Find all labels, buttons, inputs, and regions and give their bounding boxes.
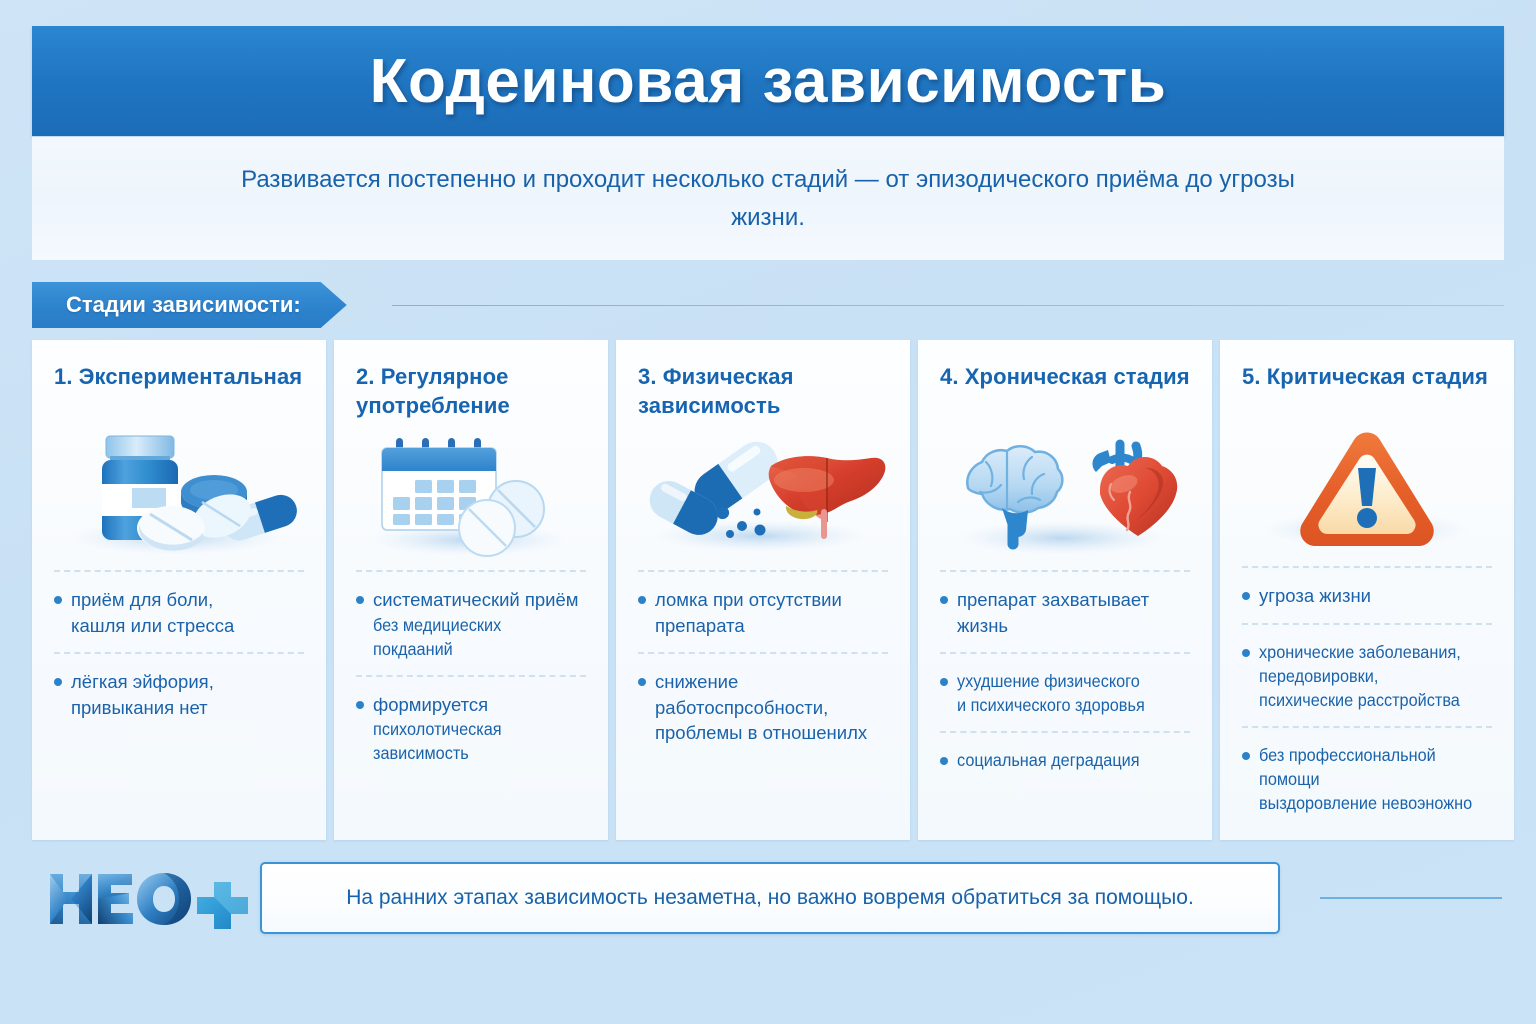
calendar-pills-icon — [356, 426, 586, 558]
stage-card-3-bullets: ломка при отсутствии препарата снижение … — [638, 572, 888, 760]
bullet-line: препарата — [655, 613, 888, 639]
stage-card-2-bullets: систематический приём без медициеских по… — [356, 572, 586, 780]
list-item: препарат захватывает жизнь — [940, 572, 1190, 652]
stage-card-5[interactable]: 5. Критическая стадия — [1220, 340, 1514, 840]
bullet-line: выздоровление невоэножно — [1259, 791, 1476, 815]
bullet-line: передовировки, — [1259, 664, 1476, 688]
stage-card-3[interactable]: 3. Физическая зависимость — [616, 340, 910, 840]
stage-cards-row: 1. Экспериментальная — [32, 340, 1504, 840]
footer: На ранних этапах зависимость незаметна, … — [32, 856, 1504, 952]
stages-rule — [392, 305, 1504, 306]
page-title: Кодеиновая зависимость — [370, 46, 1167, 117]
pill-bottle-icon — [54, 426, 304, 558]
subtitle-panel: Развивается постепенно и проходит нескол… — [32, 136, 1504, 260]
stage-card-1[interactable]: 1. Экспериментальная — [32, 340, 326, 840]
list-item: хронические заболевания, передовировки, … — [1242, 623, 1492, 726]
bullet-dot-icon — [1242, 752, 1250, 760]
stages-banner-label: Стадии зависимости: — [66, 292, 301, 318]
bullet-dot-icon — [1242, 592, 1250, 600]
bullet-line: и психического здоровья — [957, 693, 1174, 717]
stage-card-5-bullets: угроза жизни хронические заболевания, пе… — [1242, 568, 1492, 829]
bullet-line: снижение — [655, 669, 888, 695]
bullet-line: формируется — [373, 692, 586, 718]
bullet-line: психические расстройства — [1259, 688, 1476, 712]
bullet-line: без медициеских покдааний — [373, 613, 571, 661]
footer-note-text: На ранних этапах зависимость незаметна, … — [320, 886, 1220, 910]
stage-card-1-bullets: приём для боли, кашля или стресса лёгкая… — [54, 572, 304, 734]
stages-banner-wrap: Стадии зависимости: — [32, 282, 1504, 328]
subtitle-text: Развивается постепенно и проходит нескол… — [233, 161, 1303, 235]
neo-plus-logo[interactable] — [46, 868, 258, 930]
footer-note-box: На ранних этапах зависимость незаметна, … — [260, 862, 1280, 934]
stage-card-1-title: 1. Экспериментальная — [54, 362, 304, 424]
stage-card-3-title: 3. Физическая зависимость — [638, 362, 888, 424]
bullet-dot-icon — [940, 596, 948, 604]
bullet-dot-icon — [356, 596, 364, 604]
list-item: угроза жизни — [1242, 568, 1492, 623]
bullet-line: привыкания нет — [71, 695, 304, 721]
stage-card-5-title: 5. Критическая стадия — [1242, 362, 1492, 424]
stage-card-2-title: 2. Регулярное употребление — [356, 362, 586, 424]
list-item: социальная деградация — [940, 731, 1190, 786]
header-bar: Кодеиновая зависимость — [32, 26, 1504, 136]
warning-triangle-icon — [1242, 426, 1492, 554]
bullet-line: ломка при отсутствии — [655, 587, 888, 613]
bullet-dot-icon — [638, 596, 646, 604]
list-item: систематический приём без медициеских по… — [356, 572, 586, 675]
stage-card-4[interactable]: 4. Хроническая стадия — [918, 340, 1212, 840]
list-item: ухудшение физического и психического здо… — [940, 652, 1190, 731]
list-item: приём для боли, кашля или стресса — [54, 572, 304, 652]
brain-heart-icon — [940, 426, 1190, 558]
list-item: лёгкая эйфория, привыкания нет — [54, 652, 304, 734]
stage-card-2[interactable]: 2. Регулярное употребление — [334, 340, 608, 840]
list-item: ломка при отсутствии препарата — [638, 572, 888, 652]
bullet-dot-icon — [1242, 649, 1250, 657]
list-item: снижение работоспрсобности, проблемы в о… — [638, 652, 888, 760]
bullet-line: хронические заболевания, — [1259, 640, 1476, 664]
bullet-line: социальная деградация — [957, 748, 1174, 772]
bullet-line: работоспрсобности, — [655, 695, 888, 721]
bullet-line: лёгкая эйфория, — [71, 669, 304, 695]
capsule-liver-icon — [638, 426, 888, 558]
bullet-line: жизнь — [957, 613, 1190, 639]
bullet-line: без профессиональной помощи — [1259, 743, 1476, 791]
bullet-line: ухудшение физического — [957, 669, 1174, 693]
bullet-line: кашля или стресса — [71, 613, 304, 639]
bullet-line: проблемы в отношенилх — [655, 720, 888, 746]
bullet-dot-icon — [638, 678, 646, 686]
stages-banner: Стадии зависимости: — [32, 282, 347, 328]
bullet-line: угроза жизни — [1259, 583, 1492, 609]
bullet-line: приём для боли, — [71, 587, 304, 613]
list-item: формируется психолотическая зависимость — [356, 675, 586, 780]
stage-card-4-bullets: препарат захватывает жизнь ухудшение физ… — [940, 572, 1190, 786]
bullet-line: препарат захватывает — [957, 587, 1190, 613]
bullet-dot-icon — [940, 757, 948, 765]
bullet-line: психолотическая зависимость — [373, 717, 571, 765]
stage-card-4-title: 4. Хроническая стадия — [940, 362, 1190, 424]
bullet-dot-icon — [54, 678, 62, 686]
infographic-page: Кодеиновая зависимость Развивается посте… — [0, 0, 1536, 1024]
list-item: без профессиональной помощи выздоровлени… — [1242, 726, 1492, 829]
bullet-line: систематический приём — [373, 587, 586, 613]
bullet-dot-icon — [940, 678, 948, 686]
bullet-dot-icon — [356, 701, 364, 709]
footer-rule — [1320, 897, 1502, 899]
bullet-dot-icon — [54, 596, 62, 604]
